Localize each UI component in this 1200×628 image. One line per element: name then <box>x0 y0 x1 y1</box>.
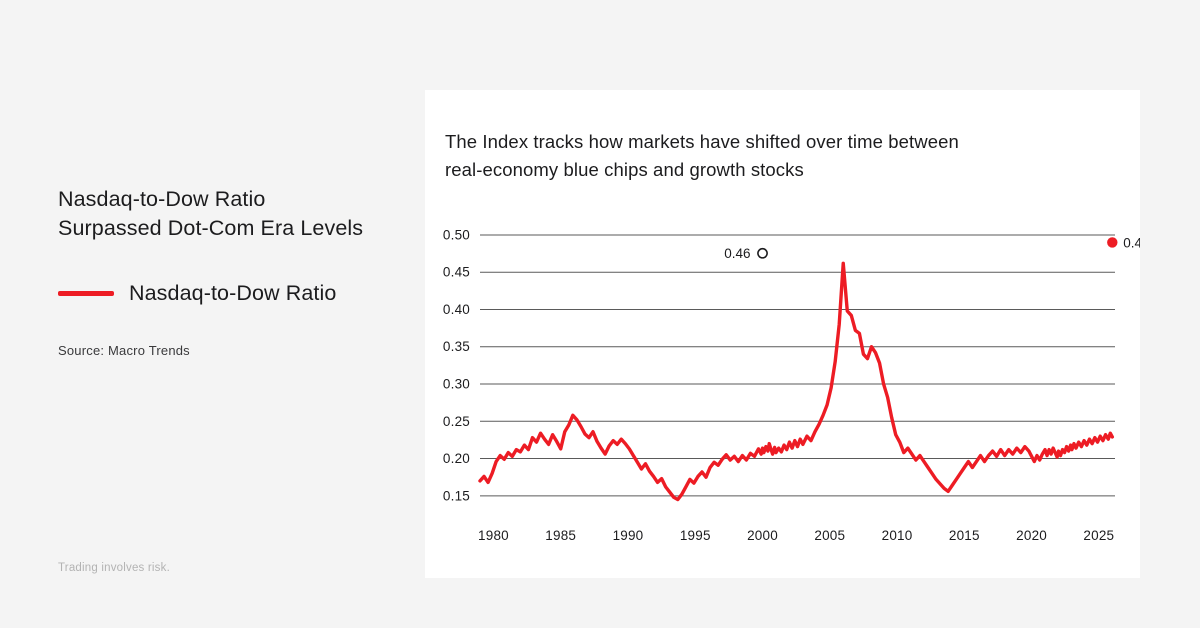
y-axis-tick-label: 0.35 <box>443 339 470 354</box>
chart-card: The Index tracks how markets have shifte… <box>425 90 1140 578</box>
source-note: Source: Macro Trends <box>58 343 408 358</box>
x-axis-tick-label: 2005 <box>814 528 845 543</box>
line-chart-svg: 0.150.200.250.300.350.400.450.5019801985… <box>425 90 1140 578</box>
y-axis-tick-label: 0.20 <box>443 451 470 466</box>
annotation-label-latest: 0.49 <box>1123 235 1140 250</box>
page-root: Nasdaq-to-Dow Ratio Surpassed Dot-Com Er… <box>0 0 1200 628</box>
x-axis-tick-label: 1980 <box>478 528 509 543</box>
x-axis-tick-label: 1995 <box>680 528 711 543</box>
series-line-nasdaq-to-dow-ratio <box>480 263 1112 499</box>
annotation-marker-open-circle <box>758 249 767 258</box>
left-panel: Nasdaq-to-Dow Ratio Surpassed Dot-Com Er… <box>58 185 408 358</box>
x-axis-tick-label: 1990 <box>613 528 644 543</box>
y-axis-tick-label: 0.40 <box>443 302 470 317</box>
x-axis-tick-label: 1985 <box>545 528 576 543</box>
legend: Nasdaq-to-Dow Ratio <box>58 281 408 306</box>
legend-swatch-icon <box>58 291 114 296</box>
x-axis-tick-label: 2020 <box>1016 528 1047 543</box>
chart-plot-area: 0.150.200.250.300.350.400.450.5019801985… <box>425 90 1140 578</box>
legend-label: Nasdaq-to-Dow Ratio <box>129 281 336 306</box>
y-axis-tick-label: 0.15 <box>443 488 470 503</box>
disclaimer-note: Trading involves risk. <box>58 562 170 574</box>
x-axis-tick-label: 2015 <box>949 528 980 543</box>
x-axis-tick-label: 2010 <box>882 528 913 543</box>
x-axis-tick-label: 2000 <box>747 528 778 543</box>
y-axis-tick-label: 0.50 <box>443 227 470 242</box>
y-axis-tick-label: 0.30 <box>443 377 470 392</box>
page-title: Nasdaq-to-Dow Ratio Surpassed Dot-Com Er… <box>58 185 408 243</box>
y-axis-tick-label: 0.25 <box>443 414 470 429</box>
annotation-marker-endpoint-dot <box>1107 237 1117 247</box>
x-axis-tick-label: 2025 <box>1083 528 1114 543</box>
y-axis-tick-label: 0.45 <box>443 265 470 280</box>
annotation-label-peak: 0.46 <box>724 246 750 261</box>
